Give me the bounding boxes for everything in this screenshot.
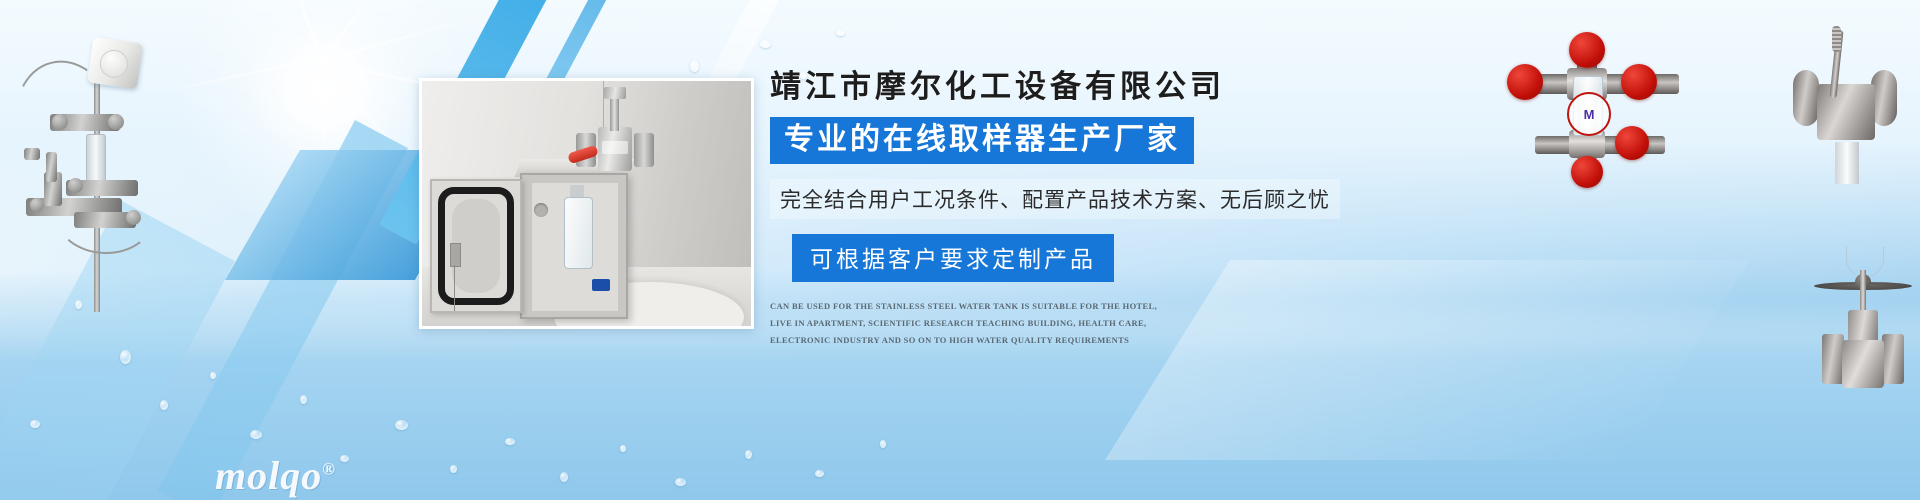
company-logo-badge: M bbox=[1567, 92, 1611, 136]
water-droplet-icon bbox=[505, 438, 515, 445]
custom-product-badge: 可根据客户要求定制产品 bbox=[792, 234, 1114, 282]
english-description: CAN BE USED FOR THE STAINLESS STEEL WATE… bbox=[770, 298, 1170, 349]
red-handwheel-icon bbox=[1507, 64, 1543, 100]
valve-bonnet-icon bbox=[1848, 310, 1878, 342]
red-handwheel-icon bbox=[1569, 32, 1605, 68]
water-droplet-icon bbox=[30, 420, 40, 428]
valve-nameplate bbox=[602, 141, 628, 154]
lever-grip-icon bbox=[1832, 26, 1841, 52]
red-handwheel-icon bbox=[1571, 156, 1603, 188]
handwheel-icon bbox=[108, 114, 124, 130]
water-droplet-icon bbox=[815, 470, 824, 477]
cabinet-door bbox=[430, 179, 522, 313]
meter-dial-icon bbox=[98, 48, 130, 80]
water-droplet-icon bbox=[690, 60, 699, 72]
water-droplet-icon bbox=[160, 400, 168, 410]
company-name: 靖江市摩尔化工设备有限公司 bbox=[770, 70, 1400, 104]
water-droplet-icon bbox=[210, 372, 216, 379]
water-droplet-icon bbox=[300, 395, 307, 404]
valve-flange-left-icon bbox=[1793, 70, 1819, 126]
water-droplet-icon bbox=[760, 40, 771, 48]
right-ball-valve-render bbox=[1775, 24, 1920, 184]
water-droplet-icon bbox=[620, 445, 626, 452]
flange-icon bbox=[24, 148, 40, 160]
water-droplet-icon bbox=[675, 478, 686, 486]
water-droplet-icon bbox=[120, 350, 131, 364]
handwheel-icon bbox=[52, 114, 68, 130]
handwheel-icon bbox=[68, 178, 83, 193]
sampler-valve-assembly bbox=[572, 89, 658, 175]
valve-actuator-icon bbox=[604, 87, 626, 99]
sample-bottle-icon bbox=[564, 197, 593, 269]
banner-copy-block: 靖江市摩尔化工设备有限公司 专业的在线取样器生产厂家 完全结合用户工况条件、配置… bbox=[770, 70, 1400, 349]
cabinet-port-hole bbox=[534, 203, 548, 217]
water-droplet-icon bbox=[250, 430, 262, 439]
valve-mount-stub bbox=[1835, 142, 1859, 184]
watermark-text: molqo bbox=[215, 453, 322, 498]
door-lock-key-icon bbox=[450, 243, 461, 267]
red-handwheel-icon bbox=[1615, 126, 1649, 160]
water-droplet-icon bbox=[395, 420, 408, 430]
promotional-banner: M 靖江市摩尔化工设备有限公司 专业的在线取样器生产厂家 完全结合用户工况条件、… bbox=[0, 0, 1920, 500]
sampler-cabinet-body bbox=[520, 173, 628, 319]
left-product-render bbox=[8, 22, 188, 312]
handwheel-icon bbox=[30, 198, 44, 212]
water-droplet-icon bbox=[450, 465, 457, 473]
right-manifold-render: M bbox=[1495, 30, 1695, 170]
water-droplet-icon bbox=[745, 450, 752, 459]
center-product-photo bbox=[419, 78, 754, 329]
water-droplet-icon bbox=[560, 472, 568, 482]
right-gate-valve-render bbox=[1800, 248, 1920, 418]
blue-cap-icon bbox=[592, 279, 610, 291]
valve-body-icon bbox=[1817, 84, 1875, 140]
water-droplet-icon bbox=[836, 30, 845, 36]
valve-body-icon bbox=[1842, 340, 1884, 388]
valve-flange-right-icon bbox=[1882, 334, 1904, 384]
brand-watermark: molqo® bbox=[215, 452, 336, 499]
registered-mark-icon: ® bbox=[322, 460, 336, 479]
handwheel-icon bbox=[126, 210, 141, 225]
relief-valve-icon bbox=[46, 152, 57, 182]
valve-flange-left-icon bbox=[1822, 334, 1844, 384]
subheadline-text: 完全结合用户工况条件、配置产品技术方案、无后顾之忧 bbox=[770, 179, 1340, 219]
red-handwheel-icon bbox=[1621, 64, 1657, 100]
valve-flange-right-icon bbox=[634, 133, 654, 167]
key-string bbox=[454, 265, 455, 311]
water-droplet-icon bbox=[880, 440, 886, 448]
headline-badge: 专业的在线取样器生产厂家 bbox=[770, 117, 1194, 164]
water-droplet-icon bbox=[340, 455, 349, 462]
